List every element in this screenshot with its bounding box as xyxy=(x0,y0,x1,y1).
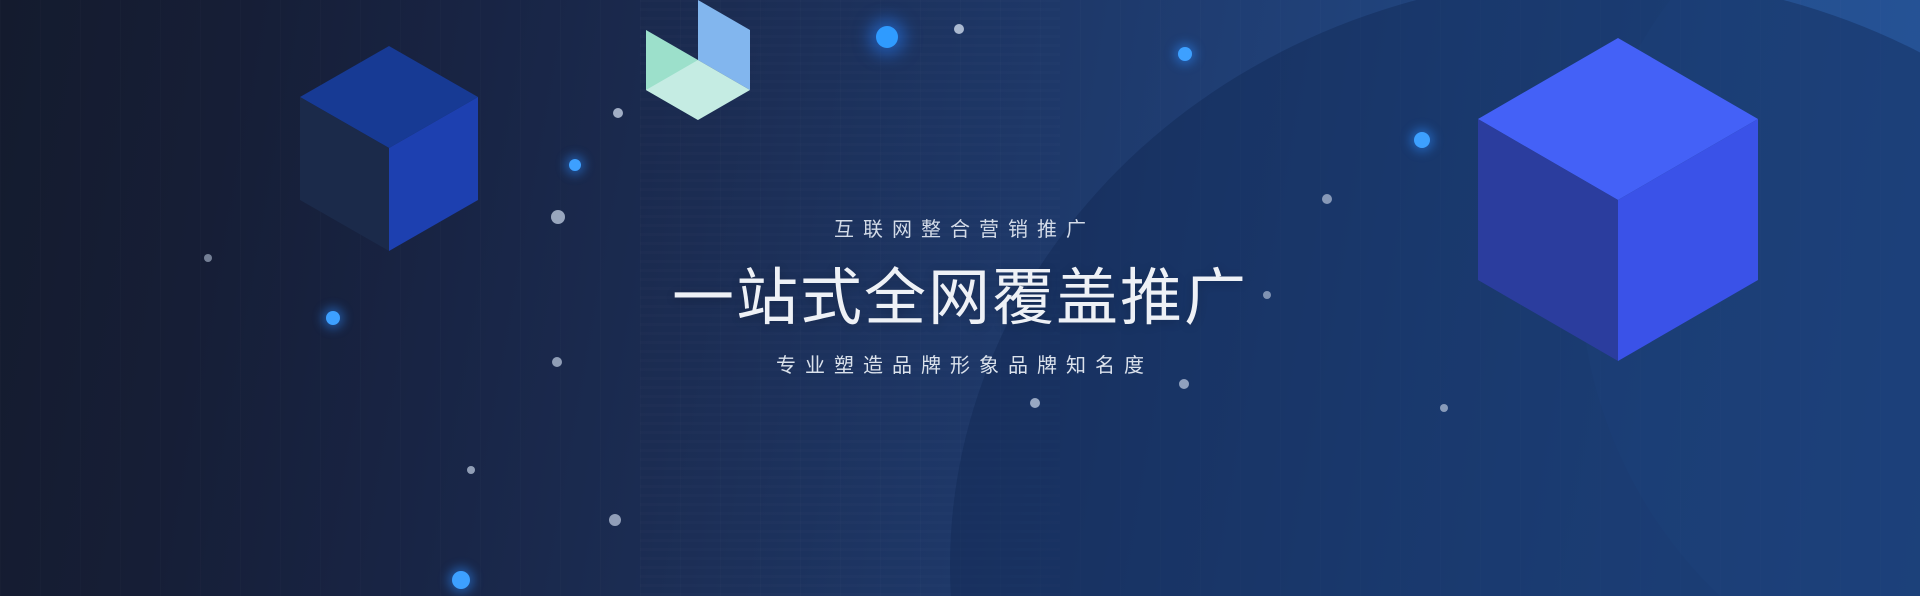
particle-dot xyxy=(551,210,565,224)
particle-dot xyxy=(613,108,623,118)
particle-dot xyxy=(1178,47,1192,61)
particle-dot xyxy=(569,159,581,171)
particle-dot xyxy=(1440,404,1448,412)
particle-dot xyxy=(1414,132,1430,148)
particle-dot xyxy=(204,254,212,262)
particle-dot xyxy=(552,357,562,367)
particle-dot xyxy=(467,466,475,474)
particle-dot xyxy=(1322,194,1332,204)
promo-banner: 互联网整合营销推广 一站式全网覆盖推广 专业塑造品牌形象品牌知名度 xyxy=(0,0,1920,596)
cube-green-icon xyxy=(646,0,750,120)
particle-dot xyxy=(954,24,964,34)
cube-left-dark-icon xyxy=(300,46,478,251)
cube-right-blue-icon xyxy=(1478,38,1758,361)
particle-dot xyxy=(609,514,621,526)
particle-dot xyxy=(1263,291,1271,299)
particle-dot xyxy=(452,571,470,589)
particle-dot xyxy=(326,311,340,325)
particle-dot xyxy=(1179,379,1189,389)
particle-dot xyxy=(1030,398,1040,408)
particle-dot xyxy=(876,26,898,48)
